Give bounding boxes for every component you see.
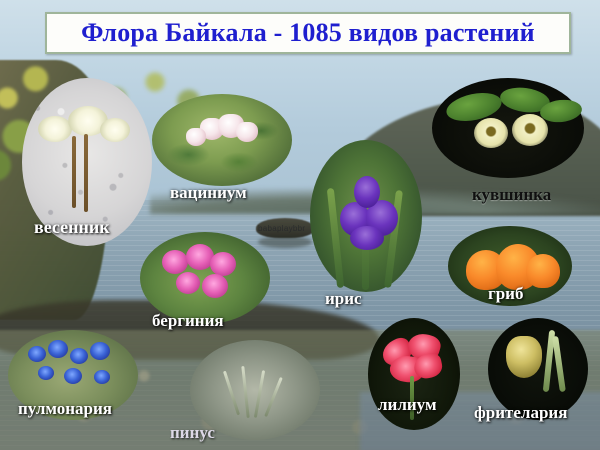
caption-pulmonaria: пулмонария — [18, 400, 112, 417]
caption-iris: ирис — [325, 290, 362, 307]
caption-bergenia: бергиния — [152, 312, 224, 329]
iris-petal — [350, 226, 384, 250]
pulmonaria-flower — [90, 342, 110, 360]
bergenia-flower — [202, 274, 228, 298]
caption-kuvshinka: кувшинка — [472, 186, 551, 203]
water-lily-flower — [512, 114, 548, 146]
fritillaria-leaf — [552, 336, 566, 392]
presentation-slide: babaplaybbr Флора Байкала - 1085 видов р… — [0, 0, 600, 450]
flower-bloom — [38, 116, 72, 142]
bergenia-flower — [162, 250, 188, 274]
pulmonaria-flower — [38, 366, 54, 380]
vacinium-image — [152, 94, 292, 186]
pulmonaria-flower — [28, 346, 46, 362]
flower-stem — [72, 136, 76, 208]
pine-needle — [241, 366, 249, 418]
caption-lilium: лилиум — [378, 396, 437, 413]
flower-bell — [236, 122, 258, 142]
iris-petal — [354, 176, 380, 208]
pine-needle — [264, 377, 283, 417]
kuvshinka-image — [432, 78, 584, 178]
caption-pinus: пинус — [170, 424, 215, 441]
flower-stem — [84, 134, 88, 212]
caption-vacinium: вациниум — [170, 184, 247, 201]
mushroom-cap — [526, 254, 560, 288]
bergenia-flower — [176, 272, 200, 294]
page-title: Флора Байкала - 1085 видов растений — [81, 18, 535, 48]
caption-fritelaria: фрителария — [474, 404, 567, 421]
pulmonaria-flower — [48, 340, 68, 358]
leaves — [152, 94, 292, 186]
slide-title-box: Флора Байкала - 1085 видов растений — [45, 12, 571, 54]
photo-kuvshinka — [432, 78, 584, 178]
pine-needle — [254, 370, 265, 418]
pulmonaria-flower — [64, 368, 82, 384]
pulmonaria-flower — [94, 370, 110, 384]
iris-image — [310, 140, 422, 292]
pine-needle — [223, 371, 240, 416]
caption-vesennik: весенник — [34, 218, 110, 236]
flower-bell — [186, 128, 206, 146]
photo-iris — [310, 140, 422, 292]
water-lily-flower — [474, 118, 508, 148]
fritillaria-bell — [506, 336, 542, 378]
pulmonaria-flower — [70, 348, 88, 364]
caption-grib: гриб — [488, 285, 523, 302]
iris-leaf — [327, 188, 344, 288]
flower-bloom — [100, 118, 130, 142]
photo-vacinium — [152, 94, 292, 186]
bergenia-flower — [210, 252, 236, 276]
